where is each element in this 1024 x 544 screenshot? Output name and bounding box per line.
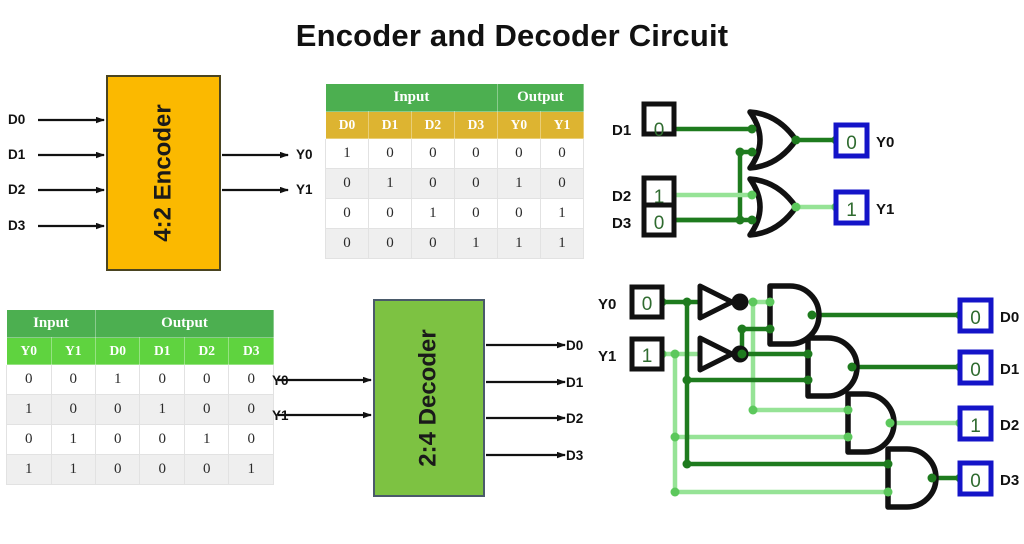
encoder-input-d3-value: 0 (654, 213, 665, 234)
encoder-cell: 0 (411, 169, 454, 199)
encoder-input-arrows (38, 120, 104, 226)
diagram-canvas: Encoder and Decoder Circuit 4:2 Encoder … (0, 0, 1024, 544)
decoder-cell: 0 (96, 395, 140, 425)
encoder-cell: 0 (411, 139, 454, 169)
decoder-cell: 0 (140, 455, 184, 485)
encoder-block-label: 4:2 Encoder (150, 104, 178, 241)
encoder-cell: 0 (454, 169, 497, 199)
decoder-input-y1[interactable]: 1 (632, 339, 662, 369)
decoder-output-d3-value: 0 (970, 471, 981, 492)
table-row: 0 0 1 0 0 0 (7, 365, 274, 395)
decoder-cell: 0 (184, 455, 228, 485)
decoder-input-y0[interactable]: 0 (632, 287, 662, 317)
encoder-table-group-input: Input (326, 84, 498, 112)
decoder-cell: 0 (96, 425, 140, 455)
encoder-table-col-y1: Y1 (540, 112, 583, 139)
or-gate-y1 (750, 179, 796, 235)
encoder-table-group-output: Output (497, 84, 583, 112)
encoder-table-column-header-row: D0 D1 D2 D3 Y0 Y1 (326, 112, 584, 139)
decoder-logic-circuit: 0 Y0 1 Y1 0 D0 0 D1 1 D2 0 (590, 272, 1024, 522)
encoder-input-d1-label: D1 (612, 122, 631, 139)
encoder-cell: 1 (368, 169, 411, 199)
encoder-input-label-d2: D2 (8, 182, 25, 197)
encoder-output-label-y1: Y1 (296, 182, 313, 197)
encoder-cell: 1 (540, 229, 583, 259)
decoder-cell: 1 (7, 395, 52, 425)
decoder-cell: 0 (51, 365, 96, 395)
decoder-output-d2-label: D2 (1000, 417, 1019, 434)
decoder-output-d1-label: D1 (1000, 361, 1019, 378)
decoder-cell: 0 (184, 395, 228, 425)
decoder-output-arrows (486, 345, 565, 455)
decoder-input-y1-label: Y1 (598, 348, 616, 365)
table-row: 0 0 0 1 1 1 (326, 229, 584, 259)
decoder-cell: 1 (96, 365, 140, 395)
decoder-table-column-header-row: Y0 Y1 D0 D1 D2 D3 (7, 338, 274, 365)
encoder-output-y1-label: Y1 (876, 201, 894, 218)
not-gate-y0 (700, 286, 747, 318)
decoder-output-d3-label: D3 (1000, 472, 1019, 489)
decoder-output-d2[interactable]: 1 (960, 408, 991, 439)
decoder-input-label-y0: Y0 (272, 373, 289, 388)
encoder-table-col-y0: Y0 (497, 112, 540, 139)
decoder-table-col-d0: D0 (96, 338, 140, 365)
encoder-cell: 0 (540, 139, 583, 169)
decoder-cell: 0 (51, 395, 96, 425)
encoder-cell: 0 (497, 139, 540, 169)
decoder-cell: 0 (96, 455, 140, 485)
encoder-cell: 1 (540, 199, 583, 229)
encoder-block: 4:2 Encoder (106, 75, 221, 271)
decoder-output-label-d3: D3 (566, 448, 583, 463)
encoder-table-group-header-row: Input Output (326, 84, 584, 112)
decoder-output-label-d0: D0 (566, 338, 583, 353)
encoder-cell: 0 (411, 229, 454, 259)
encoder-cell: 0 (326, 199, 369, 229)
decoder-output-label-d1: D1 (566, 375, 583, 390)
decoder-output-d1[interactable]: 0 (960, 352, 991, 383)
decoder-table-col-y0: Y0 (7, 338, 52, 365)
decoder-block: 2:4 Decoder (373, 299, 485, 497)
encoder-cell: 0 (454, 199, 497, 229)
decoder-input-y1-value: 1 (642, 346, 653, 367)
encoder-cell: 0 (326, 169, 369, 199)
table-row: 0 1 0 0 1 0 (326, 169, 584, 199)
decoder-cell: 0 (140, 365, 184, 395)
encoder-cell: 0 (454, 139, 497, 169)
decoder-cell: 1 (184, 425, 228, 455)
table-row: 0 1 0 0 1 0 (7, 425, 274, 455)
table-row: 1 0 0 0 0 0 (326, 139, 584, 169)
decoder-block-label: 2:4 Decoder (415, 329, 443, 466)
decoder-cell: 1 (7, 455, 52, 485)
table-row: 0 0 1 0 0 1 (326, 199, 584, 229)
encoder-output-y0-value: 0 (846, 133, 857, 154)
encoder-table-col-d1: D1 (368, 112, 411, 139)
table-row: 1 1 0 0 0 1 (7, 455, 274, 485)
encoder-input-label-d0: D0 (8, 112, 25, 127)
decoder-output-label-d2: D2 (566, 411, 583, 426)
encoder-truth-table: Input Output D0 D1 D2 D3 Y0 Y1 1 0 0 0 0… (325, 83, 584, 259)
encoder-output-y1-value: 1 (846, 200, 857, 221)
encoder-cell: 1 (326, 139, 369, 169)
encoder-table-col-d2: D2 (411, 112, 454, 139)
decoder-cell: 0 (140, 425, 184, 455)
decoder-table-group-header-row: Input Output (7, 310, 274, 338)
decoder-output-d0[interactable]: 0 (960, 300, 991, 331)
encoder-input-d2-label: D2 (612, 188, 631, 205)
encoder-input-d1[interactable]: 0 (644, 104, 674, 141)
encoder-table-col-d3: D3 (454, 112, 497, 139)
decoder-cell: 1 (140, 395, 184, 425)
encoder-circuit-wires (672, 129, 836, 220)
encoder-logic-circuit: 0 D1 1 D2 0 D3 0 Y0 1 Y1 (600, 92, 1024, 252)
encoder-output-y0-label: Y0 (876, 134, 894, 151)
table-row: 1 0 0 1 0 0 (7, 395, 274, 425)
encoder-input-label-d3: D3 (8, 218, 25, 233)
encoder-input-d3-label: D3 (612, 215, 631, 232)
encoder-output-y1[interactable]: 1 (836, 192, 867, 223)
encoder-cell: 0 (540, 169, 583, 199)
encoder-cell: 0 (368, 139, 411, 169)
decoder-output-d2-value: 1 (970, 416, 981, 437)
decoder-output-d3[interactable]: 0 (960, 463, 991, 494)
encoder-cell: 0 (368, 199, 411, 229)
decoder-input-y0-label: Y0 (598, 296, 616, 313)
decoder-cell: 1 (51, 425, 96, 455)
encoder-table-col-d0: D0 (326, 112, 369, 139)
decoder-output-d1-value: 0 (970, 360, 981, 381)
decoder-cell: 1 (51, 455, 96, 485)
decoder-truth-table: Input Output Y0 Y1 D0 D1 D2 D3 0 0 1 0 0… (6, 309, 274, 485)
encoder-cell: 1 (454, 229, 497, 259)
decoder-cell: 0 (7, 365, 52, 395)
encoder-cell: 0 (368, 229, 411, 259)
page-title: Encoder and Decoder Circuit (0, 18, 1024, 54)
decoder-input-arrows (278, 380, 371, 415)
encoder-output-y0[interactable]: 0 (836, 125, 867, 156)
or-gate-y0 (750, 112, 796, 168)
decoder-table-group-input: Input (7, 310, 96, 338)
decoder-cell: 0 (184, 365, 228, 395)
encoder-cell: 0 (497, 199, 540, 229)
decoder-cell: 0 (7, 425, 52, 455)
decoder-table-col-d1: D1 (140, 338, 184, 365)
decoder-output-d0-label: D0 (1000, 309, 1019, 326)
encoder-output-arrows (222, 155, 288, 190)
decoder-table-col-y1: Y1 (51, 338, 96, 365)
decoder-input-y0-value: 0 (642, 294, 653, 315)
decoder-input-label-y1: Y1 (272, 408, 289, 423)
encoder-input-label-d1: D1 (8, 147, 25, 162)
encoder-output-label-y0: Y0 (296, 147, 313, 162)
encoder-cell: 0 (326, 229, 369, 259)
encoder-cell: 1 (497, 229, 540, 259)
decoder-output-d0-value: 0 (970, 308, 981, 329)
decoder-table-group-output: Output (96, 310, 274, 338)
decoder-table-col-d2: D2 (184, 338, 228, 365)
encoder-input-d3[interactable]: 0 (644, 205, 674, 235)
encoder-cell: 1 (497, 169, 540, 199)
encoder-cell: 1 (411, 199, 454, 229)
encoder-input-d1-value: 0 (654, 120, 665, 141)
